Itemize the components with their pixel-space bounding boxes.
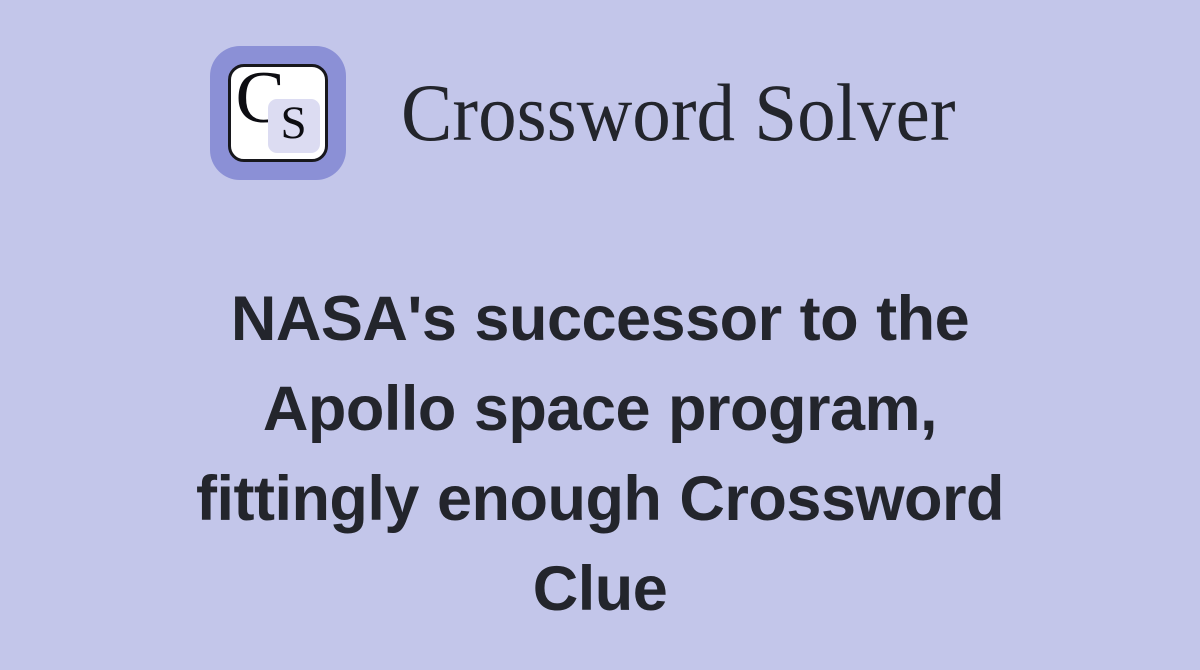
logo-s-tile: S <box>268 99 320 153</box>
logo-tile: C S <box>228 64 328 162</box>
page-root: C S Crossword Solver NASA's successor to… <box>0 0 1200 670</box>
crossword-solver-logo-icon[interactable]: C S <box>210 46 346 180</box>
page-title: NASA's successor to the Apollo space pro… <box>170 274 1030 634</box>
site-header: C S Crossword Solver <box>0 46 1200 180</box>
site-title[interactable]: Crossword Solver <box>401 72 956 154</box>
logo-letter-s: S <box>280 100 306 147</box>
